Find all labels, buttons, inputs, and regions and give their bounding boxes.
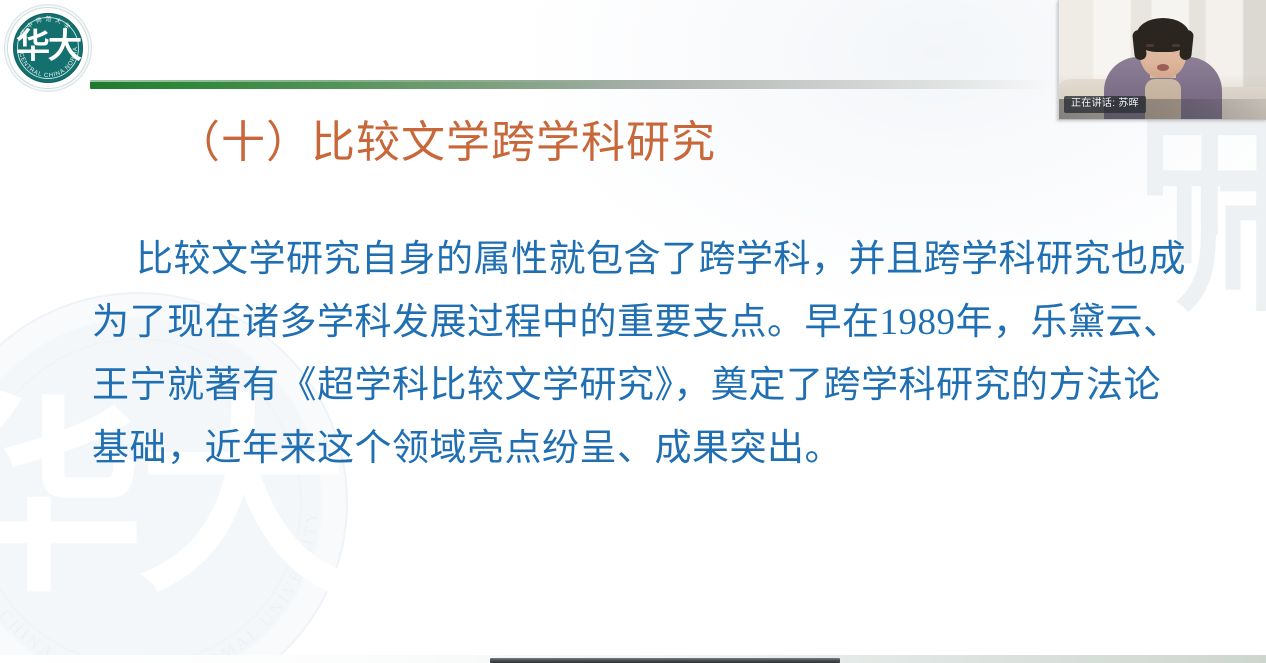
slide-body: 比较文学研究自身的属性就包含了跨学科，并且跨学科研究也成 为了现在诸多学科发展过… [92, 228, 1172, 480]
body-line-1: 比较文学研究自身的属性就包含了跨学科，并且跨学科研究也成 [92, 228, 1172, 291]
speaker-hair [1137, 18, 1190, 52]
watermark-seal-arc-left: CENTRAL CHINA [0, 517, 59, 655]
header-divider-rule [90, 80, 1050, 89]
slide-title: （十）比较文学跨学科研究 [176, 115, 716, 170]
speaker-eye-left [1146, 44, 1154, 47]
speaker-eye-right [1172, 44, 1180, 47]
watermark-seal-arc-right: NORMAL UNIVERSITY [178, 508, 322, 655]
university-logo: 华 中 师 范 大 学 CENTRAL CHINA NORMAL UNIVERS… [4, 4, 92, 92]
bottom-toolbar-strip[interactable] [490, 658, 840, 663]
speaker-video-tile[interactable]: 正在讲话: 苏晖 [1058, 0, 1266, 120]
speaking-now-label: 正在讲话: 苏晖 [1064, 96, 1146, 113]
body-line-3: 王宁就著有《超学科比较文学研究》，奠定了跨学科研究的方法论 [92, 354, 1172, 417]
speaker-mouth [1157, 64, 1169, 71]
body-line-4: 基础，近年来这个领域亮点纷呈、成果突出。 [92, 417, 1172, 480]
screen-root: CENTRAL CHINA NORMAL UNIVERSITY 华大 中 师 [0, 0, 1266, 663]
body-line-2: 为了现在诸多学科发展过程中的重要支点。早在1989年，乐黛云、 [92, 291, 1172, 354]
logo-mark-glyph: 华大 [4, 32, 92, 62]
